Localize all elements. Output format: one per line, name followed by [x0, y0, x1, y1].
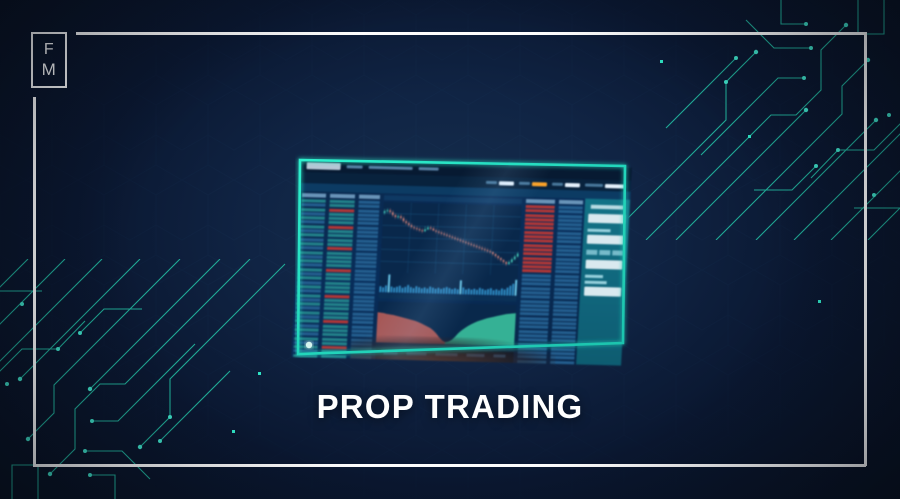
logo-letter-f: F	[44, 42, 54, 58]
book-row[interactable]	[350, 364, 371, 366]
promo-banner: F M PROP TRADING	[0, 0, 900, 499]
monitor-frame-outline	[298, 160, 625, 354]
circuit-pattern-top-right	[606, 0, 900, 240]
power-indicator-dot	[306, 342, 312, 348]
book-row[interactable]	[350, 360, 371, 364]
trading-dashboard-monitor	[295, 143, 631, 358]
page-title: PROP TRADING	[0, 388, 900, 426]
fm-logo[interactable]: F M	[31, 32, 67, 88]
book-row[interactable]	[293, 358, 317, 362]
frame-line-bottom	[33, 464, 866, 467]
circuit-pattern-bottom-left	[0, 259, 290, 499]
tape-row[interactable]	[550, 365, 574, 366]
tape-row[interactable]	[517, 364, 546, 366]
book-row[interactable]	[321, 359, 347, 363]
frame-line-top	[76, 32, 866, 35]
monitor-bezel	[295, 143, 631, 358]
book-row[interactable]	[293, 362, 317, 365]
book-row[interactable]	[320, 363, 346, 366]
logo-letter-m: M	[42, 61, 57, 78]
